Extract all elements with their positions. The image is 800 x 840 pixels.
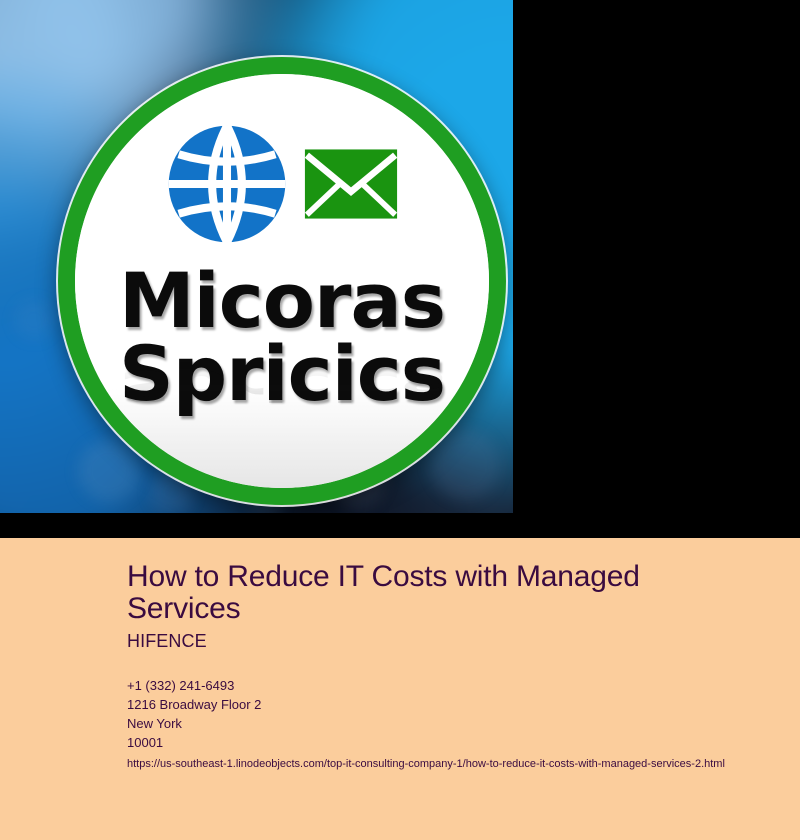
article-author: HIFENCE — [127, 631, 207, 652]
logo-disc: Micoras Spricics Spricics — [75, 74, 489, 488]
hero-logo-image: Micoras Spricics Spricics — [0, 0, 513, 513]
article-url[interactable]: https://us-southeast-1.linodeobjects.com… — [127, 757, 725, 771]
envelope-icon — [303, 147, 399, 221]
article-content: How to Reduce IT Costs with Managed Serv… — [0, 538, 800, 840]
logo-name-line-1: Micoras — [119, 266, 445, 337]
bokeh-circle — [14, 300, 54, 340]
logo-wordmark: Micoras Spricics — [119, 266, 445, 409]
company-logo-badge: Micoras Spricics Spricics — [58, 57, 506, 505]
page-title: How to Reduce IT Costs with Managed Serv… — [127, 561, 727, 626]
logo-name-line-2: Spricics — [119, 339, 445, 410]
globe-icon — [165, 122, 289, 246]
hero-banner: Micoras Spricics Spricics — [0, 0, 800, 538]
contact-zip: 10001 — [127, 733, 747, 752]
contact-city: New York — [127, 714, 747, 733]
contact-street: 1216 Broadway Floor 2 — [127, 695, 747, 714]
logo-icon-row — [165, 122, 399, 246]
contact-block: +1 (332) 241-6493 1216 Broadway Floor 2 … — [127, 676, 747, 752]
contact-phone: +1 (332) 241-6493 — [127, 676, 747, 695]
